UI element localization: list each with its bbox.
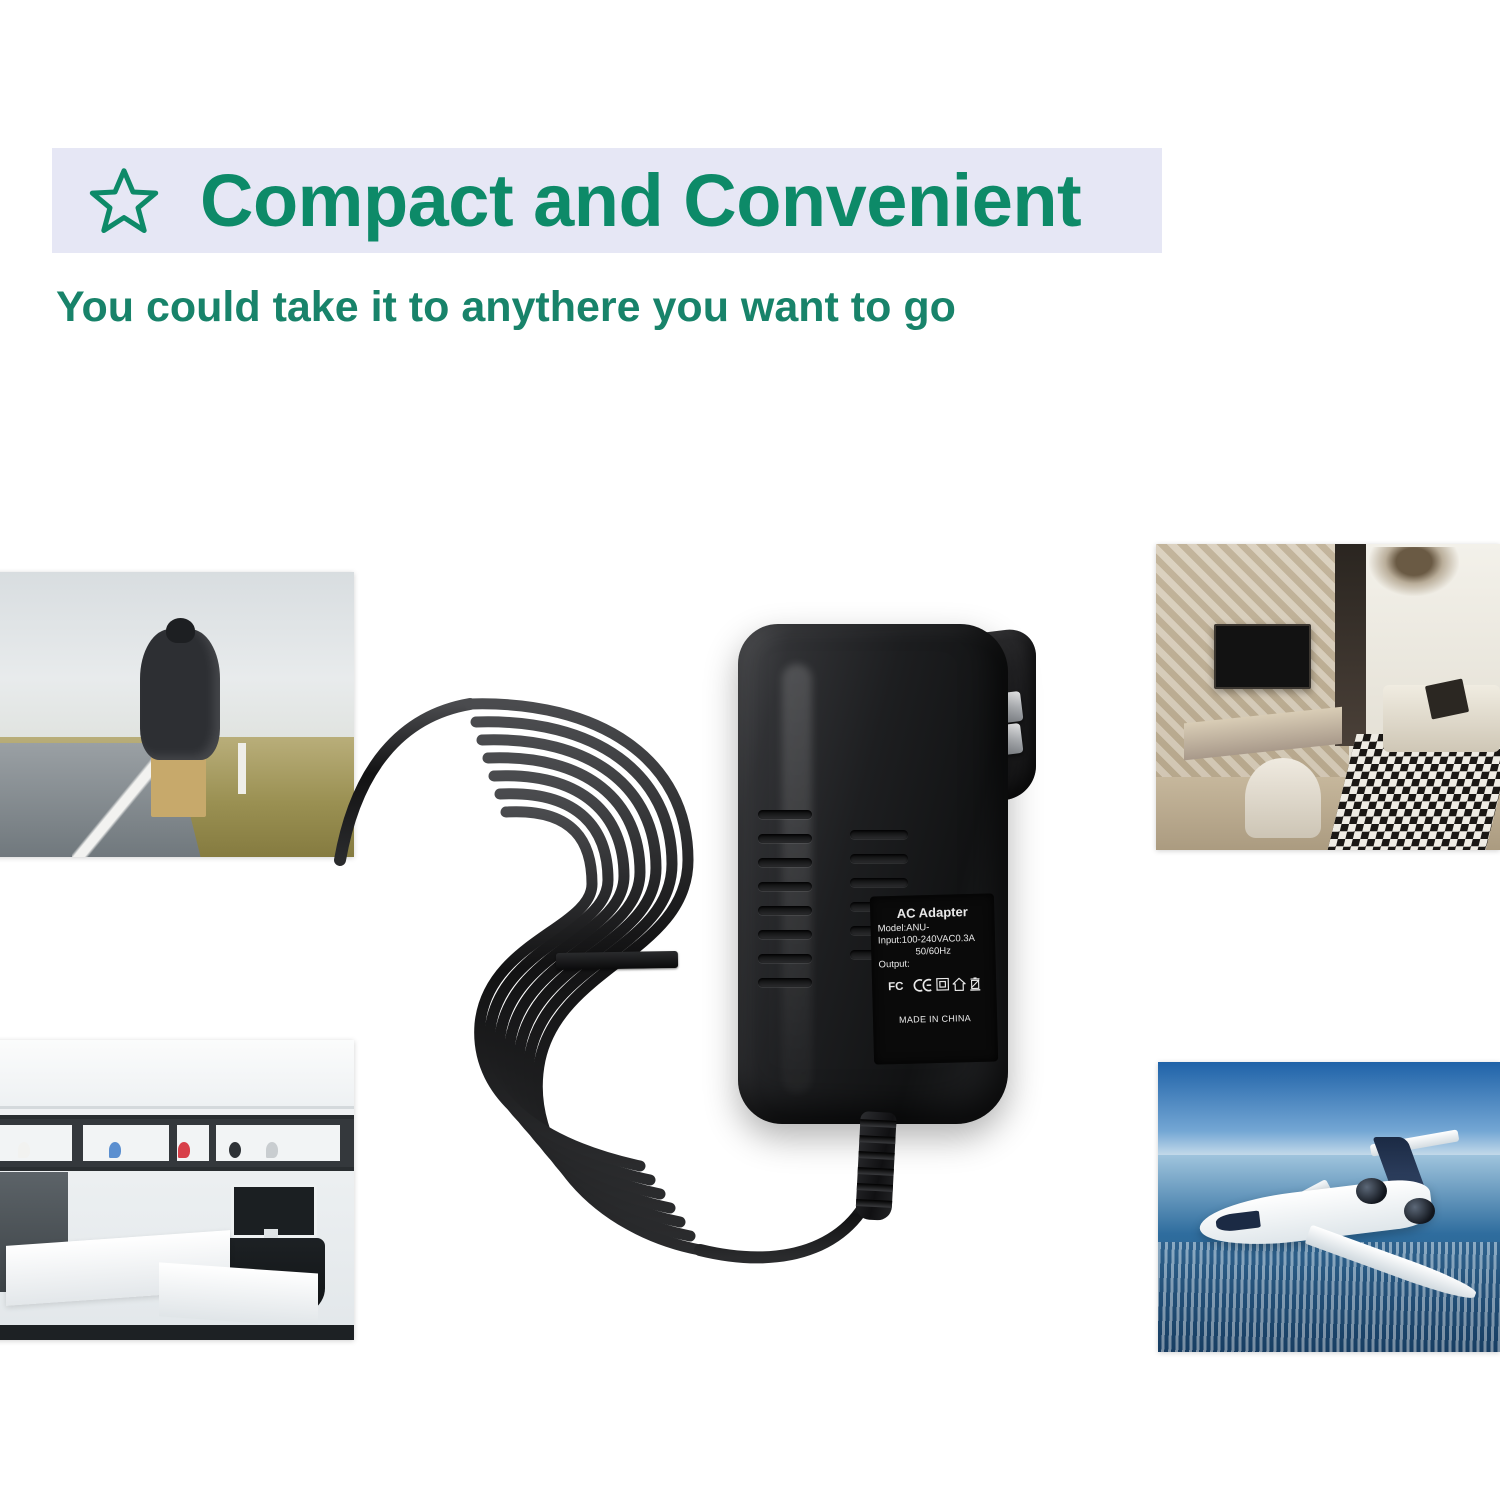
shelf-cell <box>83 1125 170 1161</box>
product-marketing-image: Compact and Convenient You could take it… <box>0 0 1500 1500</box>
sphere-ornament <box>229 1142 241 1158</box>
label-frequency: 50/60Hz <box>871 945 995 959</box>
headline-band: Compact and Convenient <box>52 148 1162 253</box>
strain-relief-rib <box>855 1183 897 1192</box>
strain-relief-rib <box>855 1167 897 1176</box>
house-indoor-use-icon <box>951 977 965 991</box>
shelf-cell <box>216 1125 339 1161</box>
strain-relief-rib <box>855 1151 897 1160</box>
vent-slot <box>758 882 812 891</box>
bird-figurine-white <box>18 1142 30 1158</box>
photo-airplane <box>1158 1062 1500 1352</box>
label-model: Model:ANU- <box>871 921 995 935</box>
hiker-head <box>166 618 195 644</box>
living-room-scene <box>1156 544 1500 850</box>
airplane-scene <box>1158 1062 1500 1352</box>
vent-group-left <box>758 810 812 987</box>
shelf-cell <box>0 1125 72 1161</box>
shelf-cell <box>177 1125 210 1161</box>
vent-slot <box>758 954 812 963</box>
ce-icon <box>912 978 932 993</box>
coastal-city <box>1158 1242 1500 1352</box>
cushion <box>1425 678 1469 719</box>
sky <box>1158 1062 1500 1161</box>
photo-living-room <box>1156 544 1500 850</box>
star-outline-icon <box>88 165 160 237</box>
weee-crossed-bin-icon <box>968 976 980 991</box>
display-shelf <box>0 1115 354 1171</box>
vent-slot <box>758 906 812 915</box>
strain-relief-rib <box>855 1199 897 1208</box>
vent-slot <box>758 858 812 867</box>
photo-office <box>0 1040 354 1340</box>
class-ii-double-square-icon <box>935 978 948 991</box>
wall-mounted-tv <box>1214 624 1311 689</box>
page-title: Compact and Convenient <box>200 164 1081 238</box>
photo-hiker <box>0 572 354 857</box>
label-output: Output: <box>872 958 996 972</box>
vent-slot <box>850 830 908 839</box>
spec-label: AC Adapter Model:ANU- Input:100-240VAC0.… <box>870 893 998 1064</box>
engine-upper <box>1356 1178 1387 1204</box>
bird-figurine-red <box>178 1142 190 1158</box>
certification-marks: FC <box>872 975 996 993</box>
ceiling-band <box>0 1040 354 1109</box>
bird-figurine-blue <box>109 1142 121 1158</box>
desk-right <box>159 1262 318 1327</box>
hiker-scene <box>0 572 354 857</box>
fcc-icon: FC <box>887 978 909 993</box>
armchair <box>1245 758 1321 838</box>
vent-slot <box>758 834 812 843</box>
vent-slot <box>758 978 812 987</box>
strain-relief <box>855 1111 897 1221</box>
floor-shadow <box>0 1325 354 1340</box>
svg-text:FC: FC <box>888 980 904 992</box>
office-scene <box>0 1040 354 1340</box>
vent-slot <box>850 854 908 863</box>
roadside-post <box>238 743 246 794</box>
vent-slot <box>758 930 812 939</box>
vent-slot <box>850 878 908 887</box>
label-title: AC Adapter <box>870 904 994 922</box>
strain-relief-rib <box>855 1135 897 1144</box>
chandelier <box>1369 547 1458 596</box>
bird-figurine-grey <box>266 1142 278 1158</box>
subtitle: You could take it to anythere you want t… <box>56 283 956 332</box>
vent-slot <box>758 810 812 819</box>
strain-relief-rib <box>856 1119 897 1128</box>
cable-tie <box>556 951 678 970</box>
label-origin: MADE IN CHINA <box>873 1012 997 1025</box>
backpack <box>140 629 220 760</box>
ac-adapter: AC Adapter Model:ANU- Input:100-240VAC0.… <box>700 600 1060 1320</box>
